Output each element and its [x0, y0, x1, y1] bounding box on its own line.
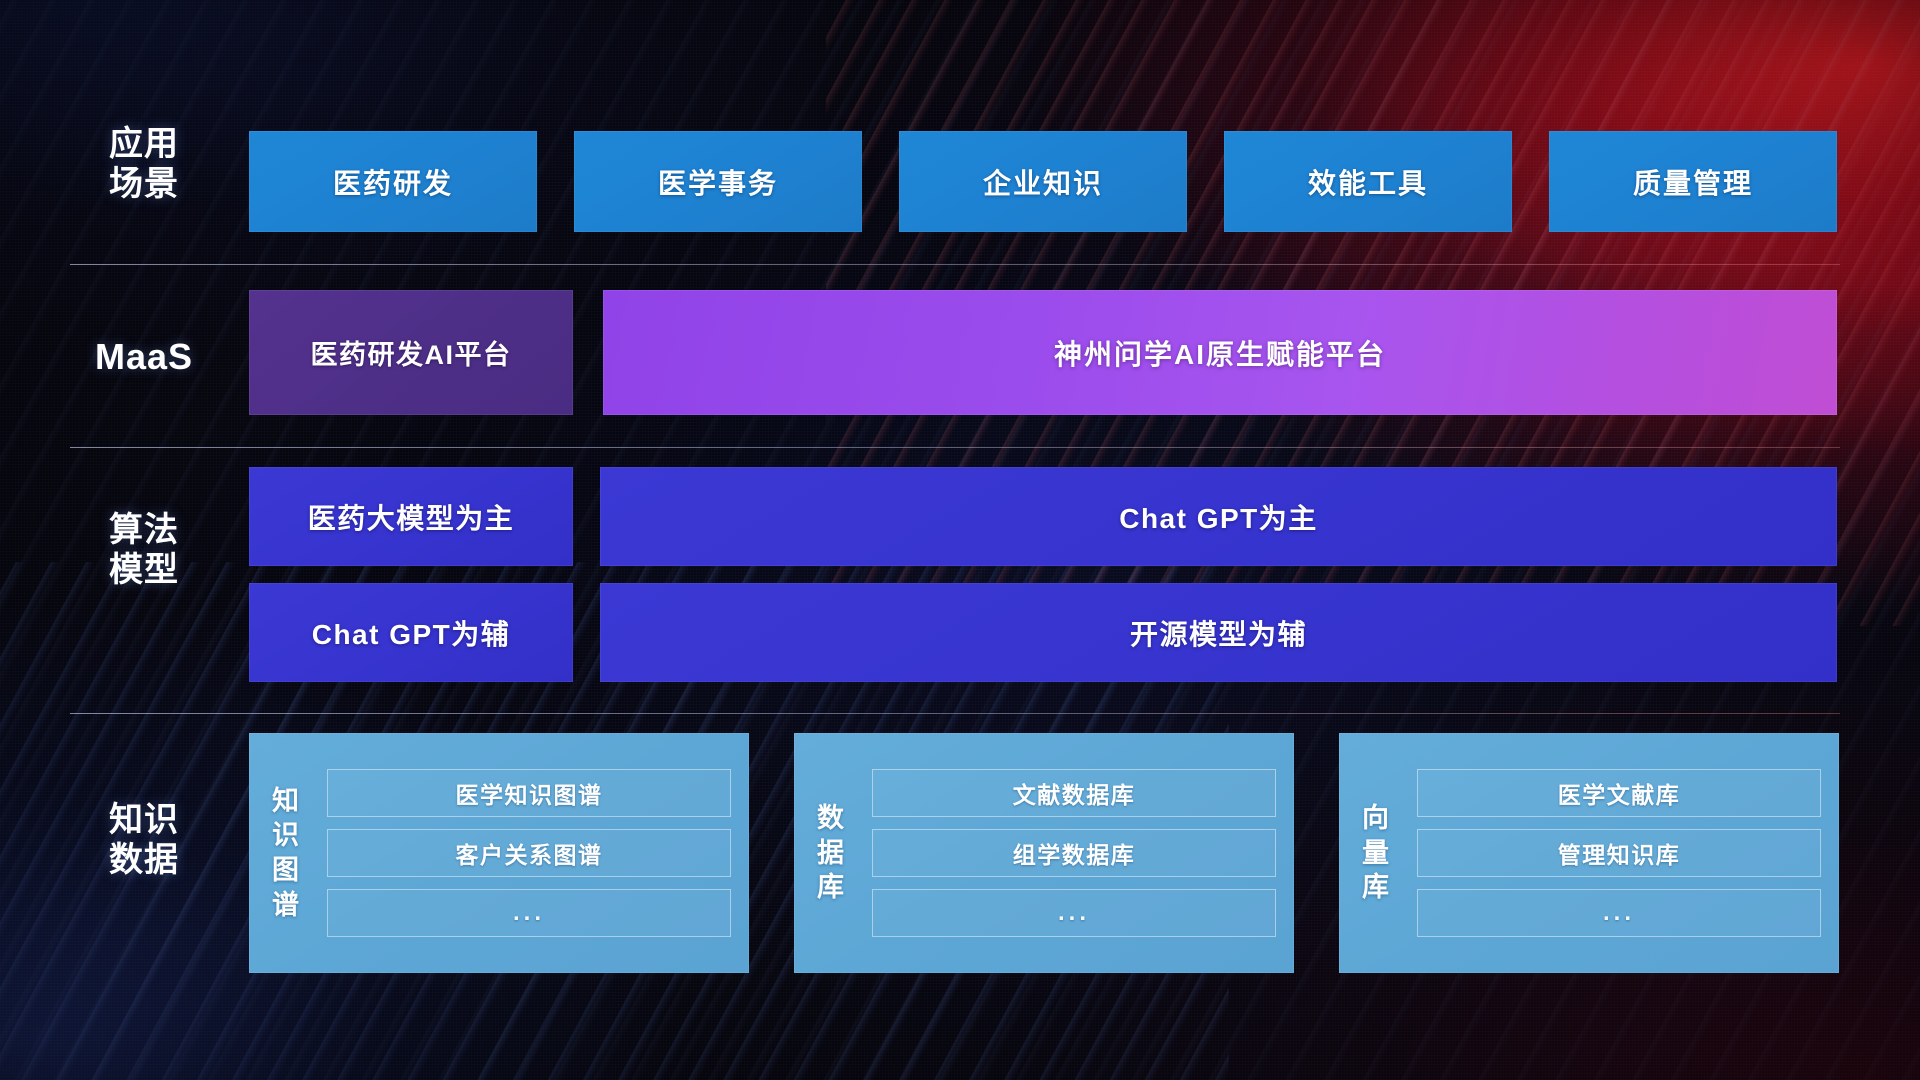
diagram-content: 应用 场景 医药研发 医学事务 企业知识 效能工具 质量管理 MaaS 医药研发… [0, 0, 1920, 1080]
app-box-0[interactable]: 医药研发 [249, 131, 537, 232]
app-box-4[interactable]: 质量管理 [1549, 131, 1837, 232]
app-box-2-label: 企业知识 [983, 162, 1103, 202]
knowledge-card-0-title-char-0: 知 [272, 784, 300, 819]
row-label-knowledge-line2: 数据 [78, 840, 210, 880]
app-box-3-label: 效能工具 [1308, 162, 1428, 202]
algorithm-row1-right-label: 开源模型为辅 [1130, 613, 1307, 653]
app-box-1[interactable]: 医学事务 [574, 131, 862, 232]
knowledge-card-0-items: 医学知识图谱 客户关系图谱 ... [323, 733, 749, 973]
row-label-algorithm-line1: 算法 [78, 510, 210, 550]
row-label-knowledge-line1: 知识 [78, 800, 210, 840]
app-box-1-label: 医学事务 [658, 162, 778, 202]
knowledge-card-2-item-2[interactable]: ... [1417, 889, 1821, 937]
knowledge-card-0-item-1[interactable]: 客户关系图谱 [327, 829, 731, 877]
knowledge-card-2-items: 医学文献库 管理知识库 ... [1413, 733, 1839, 973]
row-label-maas: MaaS [78, 336, 210, 378]
row-label-algorithm-line2: 模型 [78, 550, 210, 590]
knowledge-card-2-item-1[interactable]: 管理知识库 [1417, 829, 1821, 877]
row-label-application: 应用 场景 [78, 124, 210, 204]
algorithm-row0-left-box[interactable]: 医药大模型为主 [249, 467, 573, 566]
app-box-2[interactable]: 企业知识 [899, 131, 1187, 232]
knowledge-card-2[interactable]: 向 量 库 医学文献库 管理知识库 ... [1339, 733, 1839, 973]
row-label-algorithm: 算法 模型 [78, 510, 210, 590]
maas-left-label: 医药研发AI平台 [311, 333, 512, 372]
divider-maas-algorithm [70, 447, 1840, 448]
diagram-canvas: 应用 场景 医药研发 医学事务 企业知识 效能工具 质量管理 MaaS 医药研发… [0, 0, 1920, 1080]
algorithm-row0-left-label: 医药大模型为主 [308, 497, 515, 537]
algorithm-row0-right-label: Chat GPT为主 [1119, 497, 1318, 537]
knowledge-card-1-items: 文献数据库 组学数据库 ... [868, 733, 1294, 973]
knowledge-card-1-item-0[interactable]: 文献数据库 [872, 769, 1276, 817]
algorithm-row1-left-label: Chat GPT为辅 [312, 613, 511, 653]
knowledge-card-2-title-char-0: 向 [1362, 801, 1390, 836]
knowledge-card-0-title-char-3: 谱 [272, 888, 300, 923]
knowledge-card-0-item-2[interactable]: ... [327, 889, 731, 937]
knowledge-card-0[interactable]: 知 识 图 谱 医学知识图谱 客户关系图谱 ... [249, 733, 749, 973]
knowledge-card-1-title-char-0: 数 [817, 801, 845, 836]
knowledge-card-2-title-char-1: 量 [1362, 836, 1390, 871]
maas-left-box[interactable]: 医药研发AI平台 [249, 290, 573, 415]
row-label-knowledge: 知识 数据 [78, 800, 210, 880]
algorithm-row0-right-box[interactable]: Chat GPT为主 [600, 467, 1837, 566]
knowledge-card-0-title: 知 识 图 谱 [249, 733, 323, 973]
divider-application-maas [70, 264, 1840, 265]
knowledge-card-1-title-char-1: 据 [817, 836, 845, 871]
knowledge-card-1-title: 数 据 库 [794, 733, 868, 973]
row-label-application-line1: 应用 [78, 124, 210, 164]
maas-right-box[interactable]: 神州问学AI原生赋能平台 [603, 290, 1837, 415]
knowledge-card-0-title-char-2: 图 [272, 853, 300, 888]
knowledge-card-1-title-char-2: 库 [817, 870, 845, 905]
maas-right-label: 神州问学AI原生赋能平台 [1054, 333, 1386, 373]
app-box-3[interactable]: 效能工具 [1224, 131, 1512, 232]
row-label-maas-text: MaaS [78, 336, 210, 378]
knowledge-card-2-title: 向 量 库 [1339, 733, 1413, 973]
knowledge-card-1[interactable]: 数 据 库 文献数据库 组学数据库 ... [794, 733, 1294, 973]
knowledge-card-0-title-char-1: 识 [272, 818, 300, 853]
knowledge-card-1-item-1[interactable]: 组学数据库 [872, 829, 1276, 877]
algorithm-row1-right-box[interactable]: 开源模型为辅 [600, 583, 1837, 682]
algorithm-row1-left-box[interactable]: Chat GPT为辅 [249, 583, 573, 682]
knowledge-card-2-title-char-2: 库 [1362, 870, 1390, 905]
divider-algorithm-knowledge [70, 713, 1840, 714]
knowledge-card-1-item-2[interactable]: ... [872, 889, 1276, 937]
app-box-0-label: 医药研发 [333, 162, 453, 202]
app-box-4-label: 质量管理 [1633, 162, 1753, 202]
knowledge-card-0-item-0[interactable]: 医学知识图谱 [327, 769, 731, 817]
row-label-application-line2: 场景 [78, 164, 210, 204]
knowledge-card-2-item-0[interactable]: 医学文献库 [1417, 769, 1821, 817]
